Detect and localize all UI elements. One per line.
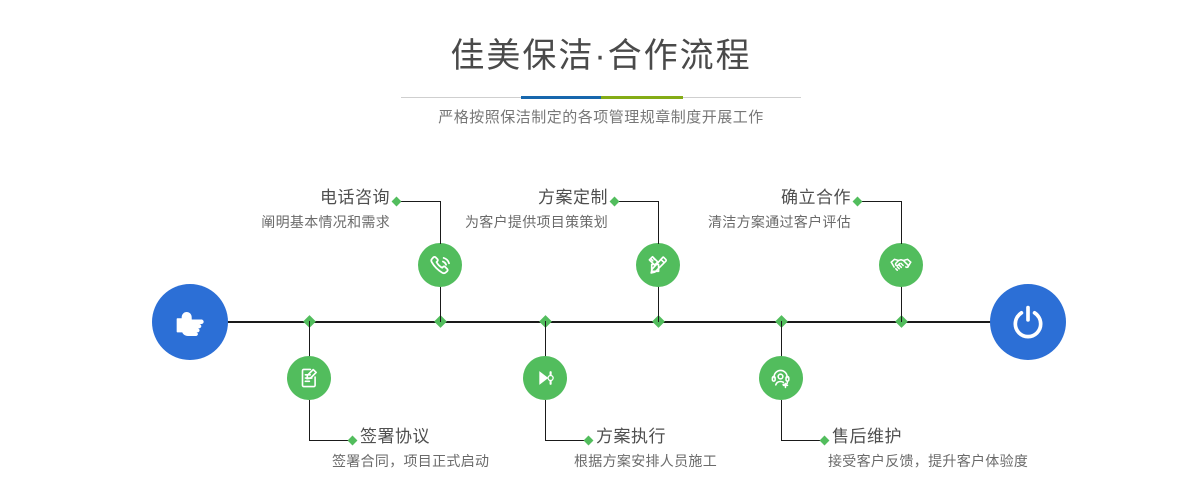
step-title-4: 方案执行: [596, 425, 846, 449]
step-node-1[interactable]: [418, 243, 462, 287]
play-execute-icon: [532, 365, 558, 391]
phone-call-icon: [427, 252, 453, 278]
stem-2: [309, 321, 310, 358]
stem-4: [545, 321, 546, 358]
step-desc-6: 接受客户反馈，提升客户体验度: [828, 449, 1092, 473]
step-desc-1: 阐明基本情况和需求: [150, 210, 390, 234]
document-sign-icon: [296, 365, 322, 391]
label-marker-2: [348, 436, 358, 446]
divider-segment-blue: [521, 96, 601, 99]
step-desc-2: 签署合同，项目正式启动: [332, 449, 610, 473]
pointing-hand-icon: [170, 302, 210, 342]
step-label-6: 售后维护 接受客户反馈，提升客户体验度: [832, 425, 1092, 473]
page-title: 佳美保洁·合作流程: [0, 34, 1202, 78]
step-title-2: 签署协议: [360, 425, 610, 449]
step-desc-3: 为客户提供项目策策划: [370, 210, 608, 234]
step-desc-5: 清洁方案通过客户评估: [613, 210, 851, 234]
cooperation-flow-infographic: 佳美保洁·合作流程 严格按照保洁制定的各项管理规章制度开展工作: [0, 0, 1202, 502]
step-node-4[interactable]: [523, 356, 567, 400]
page-subtitle: 严格按照保洁制定的各项管理规章制度开展工作: [0, 106, 1202, 130]
step-title-3: 方案定制: [370, 186, 608, 210]
step-title-6: 售后维护: [832, 425, 1092, 449]
step-title-1: 电话咨询: [150, 186, 390, 210]
label-elbow-6: [781, 400, 782, 440]
step-title-5: 确立合作: [613, 186, 851, 210]
customer-service-icon: [768, 365, 794, 391]
flow-end-node[interactable]: [990, 284, 1066, 360]
power-icon: [1007, 301, 1049, 343]
label-elbow-5: [901, 201, 902, 244]
step-label-2: 签署协议 签署合同，项目正式启动: [360, 425, 610, 473]
handshake-icon: [888, 252, 914, 278]
step-desc-4: 根据方案安排人员施工: [574, 449, 846, 473]
step-node-6[interactable]: [759, 356, 803, 400]
step-node-3[interactable]: [636, 243, 680, 287]
pencil-ruler-icon: [645, 252, 671, 278]
step-label-4: 方案执行 根据方案安排人员施工: [596, 425, 846, 473]
step-node-5[interactable]: [879, 243, 923, 287]
label-elbow-4: [545, 400, 546, 440]
step-label-5: 确立合作 清洁方案通过客户评估: [613, 186, 851, 234]
step-label-3: 方案定制 为客户提供项目策策划: [370, 186, 608, 234]
stem-6: [781, 321, 782, 358]
label-elbow-2: [309, 400, 310, 440]
title-divider: [401, 96, 801, 99]
step-label-1: 电话咨询 阐明基本情况和需求: [150, 186, 390, 234]
flow-start-node[interactable]: [152, 284, 228, 360]
step-node-2[interactable]: [287, 356, 331, 400]
label-leader-5: [858, 201, 902, 202]
label-marker-5: [853, 197, 863, 207]
divider-segment-green: [601, 96, 683, 99]
